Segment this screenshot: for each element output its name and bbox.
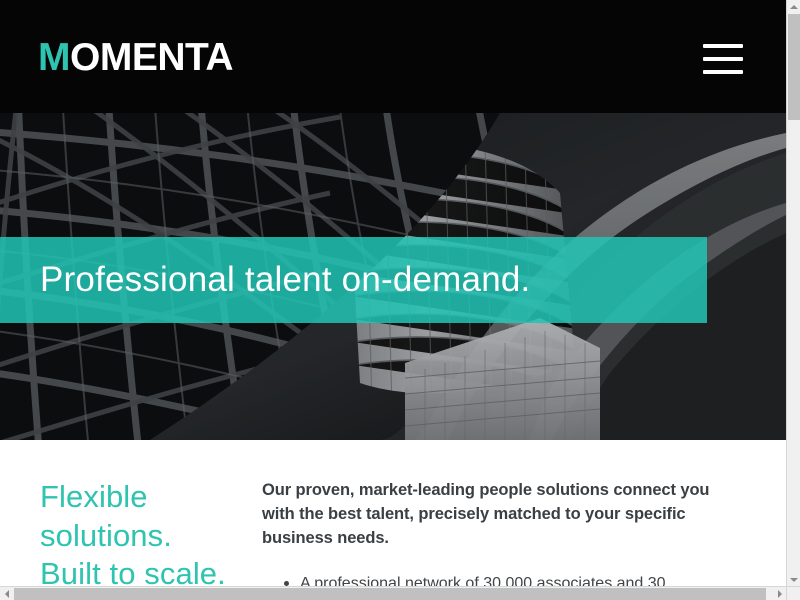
benefits-list: A professional network of 30,000 associa… (262, 572, 746, 586)
scroll-left-arrow-icon[interactable] (0, 587, 13, 600)
hamburger-bar-1 (703, 44, 743, 48)
content-section: Flexible solutions. Built to scale. Our … (0, 440, 786, 586)
logo-rest: OMENTA (70, 36, 233, 79)
content-left-column: Flexible solutions. Built to scale. (0, 478, 262, 586)
vertical-scrollbar-thumb[interactable] (788, 14, 800, 120)
section-heading: Flexible solutions. Built to scale. (40, 478, 262, 586)
vertical-scrollbar[interactable] (786, 0, 800, 586)
section-heading-line-1: Flexible (40, 479, 148, 514)
scroll-up-arrow-icon[interactable] (787, 0, 800, 13)
hero-section: Professional talent on-demand. (0, 113, 786, 440)
scroll-down-arrow-icon[interactable] (787, 573, 800, 586)
hamburger-menu-icon[interactable] (703, 44, 743, 75)
list-item: A professional network of 30,000 associa… (300, 572, 746, 586)
site-logo[interactable]: MOMENTA (38, 38, 233, 78)
browser-viewport: MOMENTA (0, 0, 786, 586)
hamburger-bar-2 (703, 57, 743, 61)
scrollbar-corner (786, 586, 800, 600)
hamburger-bar-3 (703, 70, 743, 74)
section-heading-line-3: Built to scale. (40, 556, 226, 586)
hero-banner-text: Professional talent on-demand. (0, 260, 530, 300)
logo-accent-letter: M (38, 36, 70, 79)
lead-paragraph: Our proven, market-leading people soluti… (262, 478, 746, 550)
scroll-right-arrow-icon[interactable] (773, 587, 786, 600)
content-right-column: Our proven, market-leading people soluti… (262, 478, 786, 586)
section-heading-line-2: solutions. (40, 518, 172, 553)
horizontal-scrollbar[interactable] (0, 586, 786, 600)
hero-banner: Professional talent on-demand. (0, 237, 707, 323)
site-header: MOMENTA (0, 0, 786, 113)
horizontal-scrollbar-thumb[interactable] (14, 588, 766, 600)
